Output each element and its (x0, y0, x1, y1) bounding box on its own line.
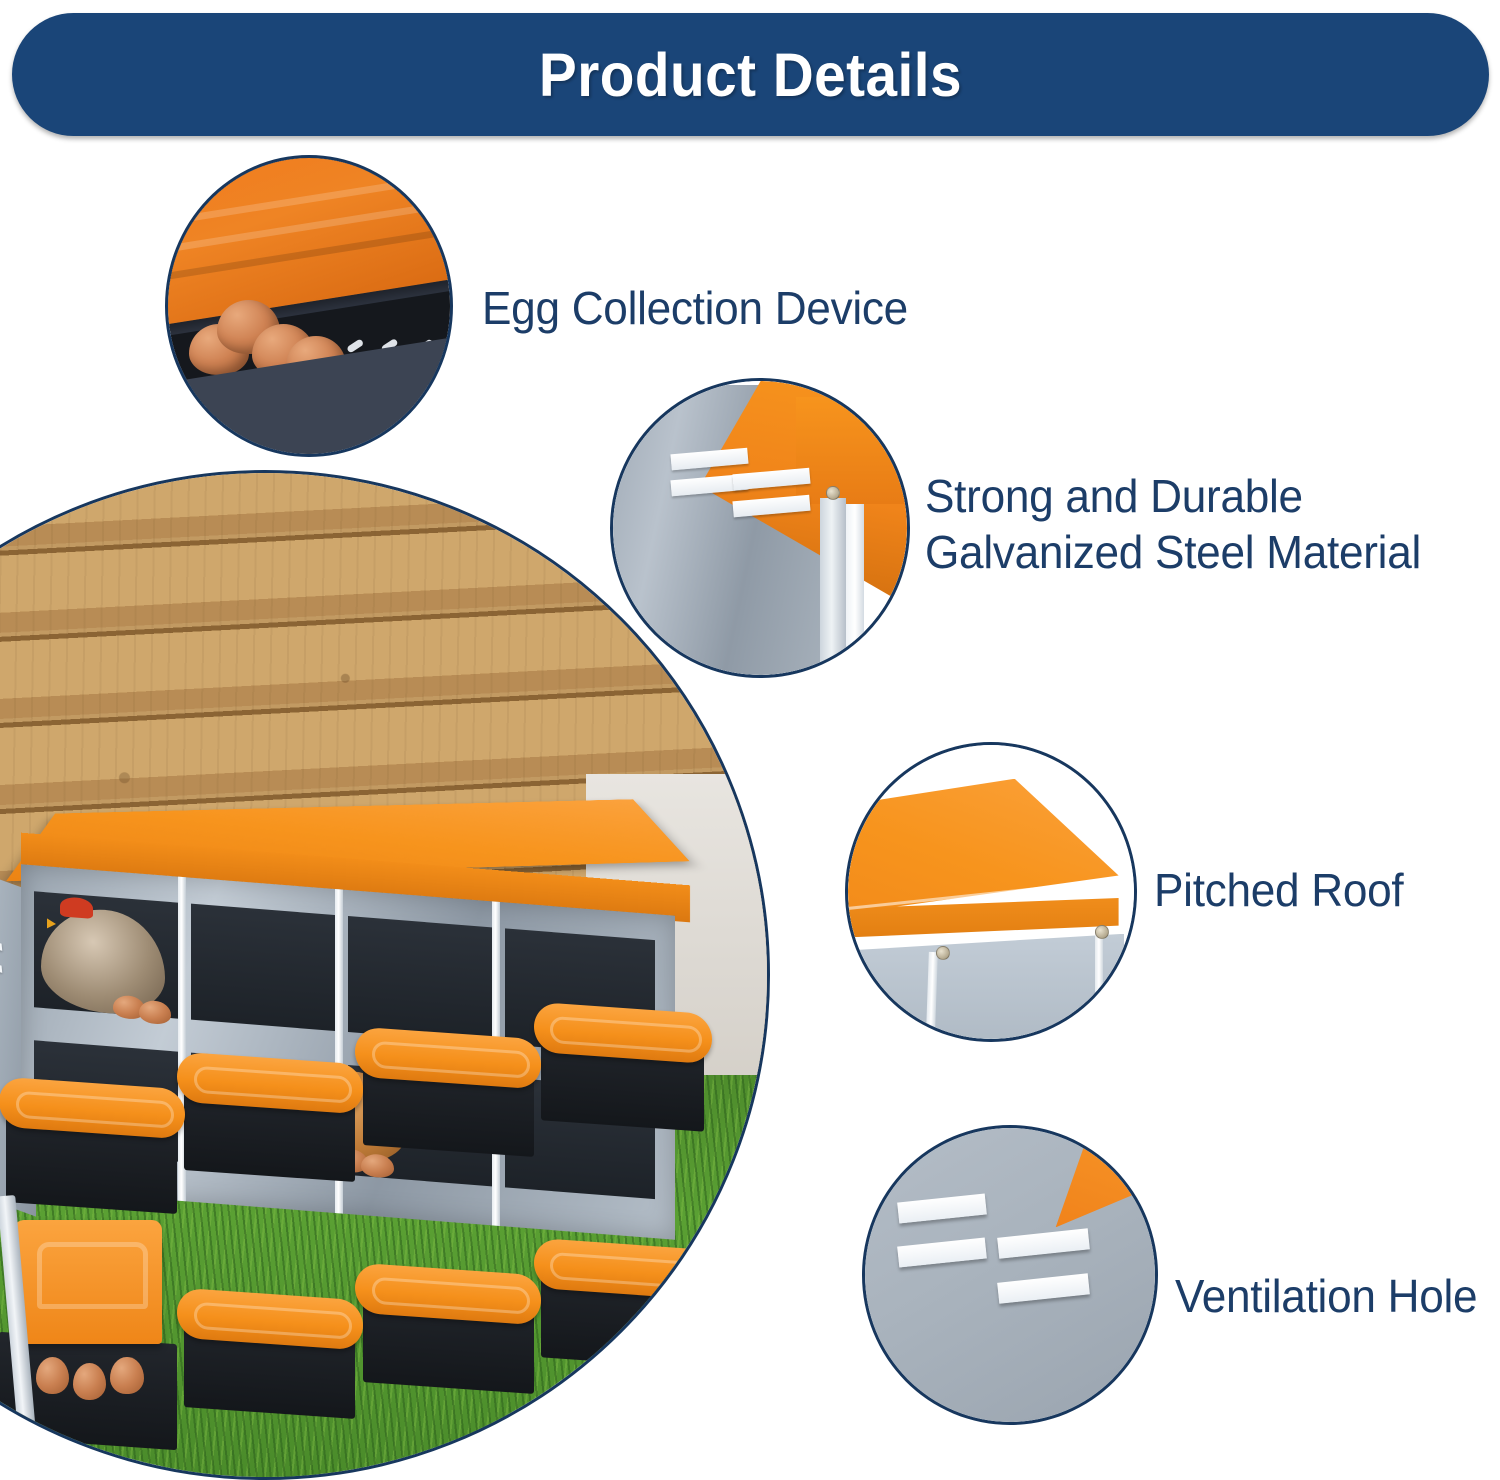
egg-tray-icon (165, 155, 453, 457)
nesting-box (0, 734, 727, 1356)
hen-beak-upper (47, 918, 56, 929)
ventilation-slots-icon (862, 1125, 1158, 1425)
page-header-banner: Product Details (12, 13, 1489, 136)
tray-handle-open[interactable] (14, 1220, 163, 1344)
feature-label-pitched-roof: Pitched Roof (1154, 862, 1403, 918)
page-title: Product Details (539, 40, 962, 110)
pitched-roof-icon (845, 742, 1137, 1042)
feature-label-egg-collection: Egg Collection Device (482, 280, 908, 336)
feature-label-galvanized-steel: Strong and Durable Galvanized Steel Mate… (925, 468, 1421, 580)
main-product-photo (0, 470, 770, 1480)
feature-label-ventilation-hole: Ventilation Hole (1175, 1268, 1477, 1324)
